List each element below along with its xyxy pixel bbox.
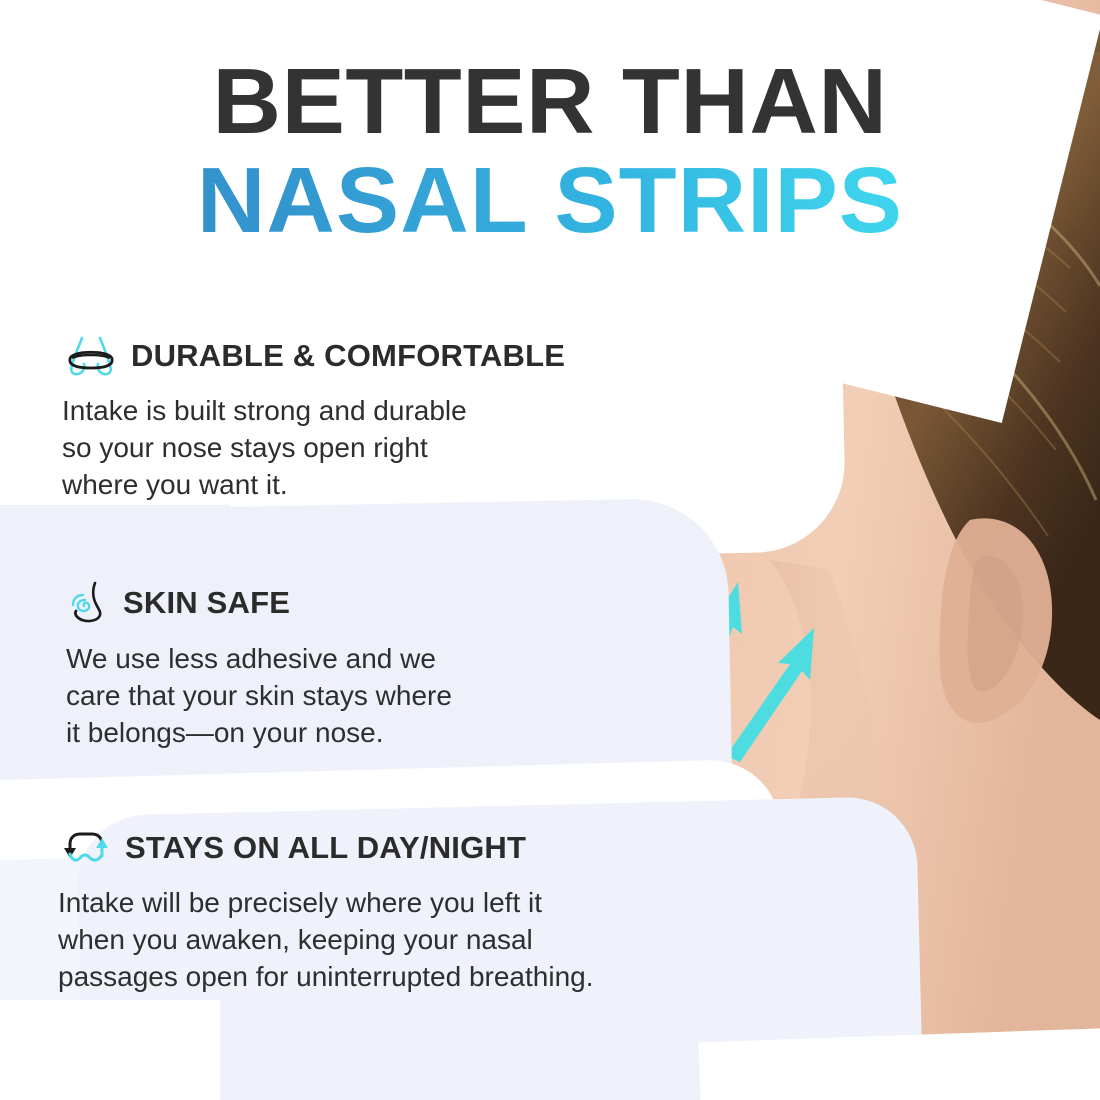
feature-2-heading: SKIN SAFE (66, 580, 452, 626)
feature-3-body: Intake will be precisely where you left … (58, 884, 594, 996)
feature-skin-safe: SKIN SAFE We use less adhesive and we ca… (66, 580, 452, 752)
feature-stays-on-all-day-night: STAYS ON ALL DAY/NIGHT Intake will be pr… (58, 826, 594, 996)
feature-3-title: STAYS ON ALL DAY/NIGHT (125, 830, 526, 866)
feature-1-body: Intake is built strong and durable so yo… (62, 392, 565, 504)
feature-3-heading: STAYS ON ALL DAY/NIGHT (58, 826, 594, 870)
day-night-cycle-nose-icon (58, 826, 112, 870)
feature-1-title: DURABLE & COMFORTABLE (131, 338, 565, 374)
feature-durable-comfortable: DURABLE & COMFORTABLE Intake is built st… (62, 334, 565, 504)
feature-1-heading: DURABLE & COMFORTABLE (64, 334, 565, 378)
panel-white-notch-left (0, 1000, 220, 1100)
feature-2-title: SKIN SAFE (123, 585, 290, 621)
nose-front-with-dilator-icon (64, 334, 118, 378)
feature-2-body: We use less adhesive and we care that yo… (66, 640, 452, 752)
nose-profile-swirl-icon (66, 580, 110, 626)
promo-poster: BETTER THAN NASAL STRIPS DURABLE & COMFO… (0, 0, 1100, 1100)
